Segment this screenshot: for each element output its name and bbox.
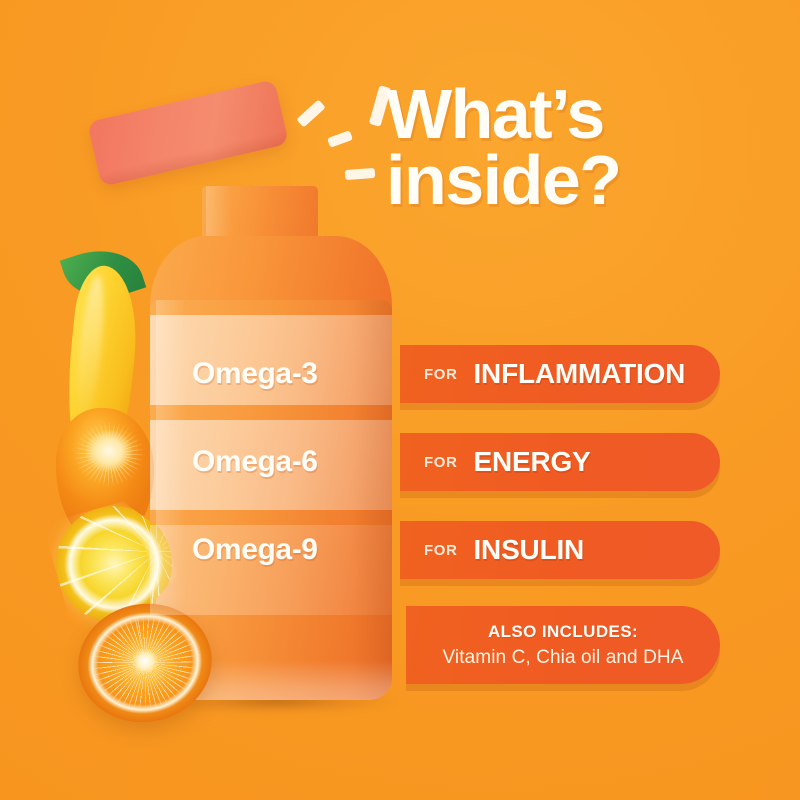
ingredient-row: Omega-6 FOR ENERGY xyxy=(150,433,720,491)
benefit-pill: FOR INSULIN xyxy=(400,521,720,579)
also-includes-title: ALSO INCLUDES: xyxy=(488,622,638,642)
benefit-label: INSULIN xyxy=(473,534,584,566)
ingredient-row: Omega-3 FOR INFLAMMATION xyxy=(150,345,720,403)
page-title-line-2: inside? xyxy=(386,148,766,214)
ingredient-label: Omega-6 xyxy=(150,445,400,479)
orange-slice-core xyxy=(132,648,158,674)
page-title: What’s inside? xyxy=(386,82,766,214)
benefit-pill: FOR INFLAMMATION xyxy=(400,345,720,403)
also-includes-items: Vitamin C, Chia oil and DHA xyxy=(442,647,683,669)
for-label: FOR xyxy=(424,542,457,559)
for-label: FOR xyxy=(424,366,457,383)
benefit-label: INFLAMMATION xyxy=(473,358,685,390)
ingredient-label: Omega-3 xyxy=(150,357,400,391)
benefit-label: ENERGY xyxy=(473,446,590,478)
sparkle-icon xyxy=(345,168,376,180)
for-label: FOR xyxy=(424,454,457,471)
orange-pith xyxy=(78,426,140,482)
infographic-canvas: What’s inside? Omega-3 FOR INFLAMMATION … xyxy=(0,0,800,800)
benefit-pill: FOR ENERGY xyxy=(400,433,720,491)
peeled-orange-illustration xyxy=(48,248,158,548)
also-includes-pill: ALSO INCLUDES: Vitamin C, Chia oil and D… xyxy=(406,606,720,684)
ingredient-label: Omega-9 xyxy=(150,533,400,567)
ingredient-row: Omega-9 FOR INSULIN xyxy=(150,521,720,579)
